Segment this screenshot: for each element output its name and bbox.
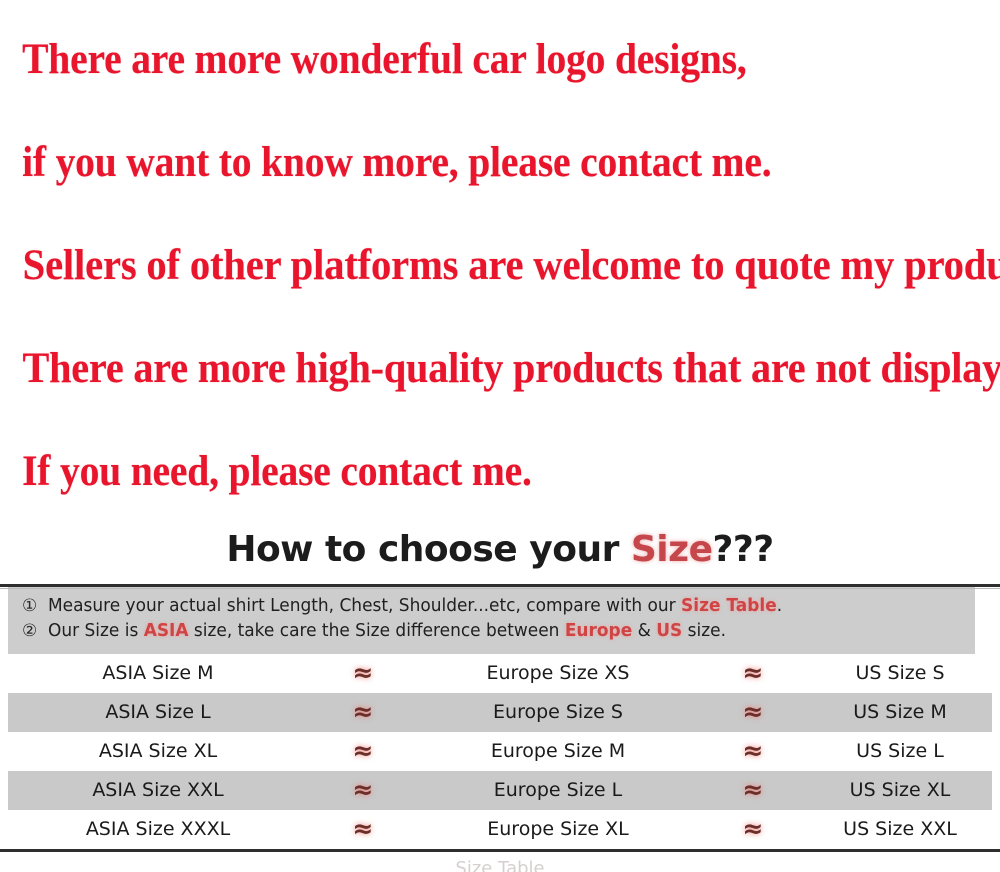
note-2-highlight-us: US: [656, 621, 682, 641]
cell-us-size: US Size XL: [808, 771, 992, 810]
cell-approx-1: ≈: [308, 771, 418, 810]
note-2-part-2: size, take care the Size difference betw…: [189, 621, 565, 641]
note-2-highlight-asia: ASIA: [144, 621, 189, 641]
promo-line-1: There are more wonderful car logo design…: [0, 0, 920, 81]
approximately-equal-icon: ≈: [743, 699, 764, 724]
circled-number-2-icon: ②: [22, 619, 48, 644]
cell-asia-size: ASIA Size XL: [8, 732, 308, 771]
cell-approx-1: ≈: [308, 810, 418, 849]
promo-headline-block: There are more wonderful car logo design…: [0, 0, 1000, 493]
heading-suffix: ???: [713, 529, 774, 570]
promo-line-5: If you need, please contact me.: [0, 390, 920, 493]
table-row: ASIA Size XXL ≈ Europe Size L ≈ US Size …: [8, 771, 992, 810]
approximately-equal-icon: ≈: [743, 738, 764, 763]
cell-approx-2: ≈: [698, 732, 808, 771]
approximately-equal-icon: ≈: [743, 660, 764, 685]
promo-line-3: Sellers of other platforms are welcome t…: [0, 184, 945, 287]
approximately-equal-icon: ≈: [353, 738, 374, 763]
size-conversion-table: ASIA Size M ≈ Europe Size XS ≈ US Size S…: [8, 654, 992, 849]
heading-prefix: How to choose your: [226, 529, 631, 570]
cell-us-size: US Size L: [808, 732, 992, 771]
approximately-equal-icon: ≈: [353, 660, 374, 685]
cell-europe-size: Europe Size M: [418, 732, 698, 771]
cell-approx-2: ≈: [698, 810, 808, 849]
table-row: ASIA Size M ≈ Europe Size XS ≈ US Size S: [8, 654, 992, 693]
cell-us-size: US Size M: [808, 693, 992, 732]
note-2-part-4: &: [632, 621, 656, 641]
table-row: ASIA Size L ≈ Europe Size S ≈ US Size M: [8, 693, 992, 732]
note-1-highlight-size-table: Size Table: [681, 596, 777, 616]
heading-highlight-size: Size: [631, 529, 713, 570]
cell-europe-size: Europe Size L: [418, 771, 698, 810]
clipped-footer-text: Size Table: [0, 858, 1000, 872]
cell-asia-size: ASIA Size L: [8, 693, 308, 732]
note-2-part-0: Our Size is: [48, 621, 144, 641]
cell-asia-size: ASIA Size XXL: [8, 771, 308, 810]
cell-europe-size: Europe Size XL: [418, 810, 698, 849]
cell-approx-1: ≈: [308, 654, 418, 693]
size-guide-heading: How to choose your Size???: [0, 529, 1000, 570]
circled-number-1-icon: ①: [22, 594, 48, 619]
approximately-equal-icon: ≈: [743, 777, 764, 802]
note-2-highlight-europe: Europe: [565, 621, 632, 641]
size-note-1-text: Measure your actual shirt Length, Chest,…: [48, 594, 782, 619]
cell-approx-2: ≈: [698, 693, 808, 732]
cell-approx-1: ≈: [308, 732, 418, 771]
cell-asia-size: ASIA Size XXXL: [8, 810, 308, 849]
cell-asia-size: ASIA Size M: [8, 654, 308, 693]
table-row: ASIA Size XL ≈ Europe Size M ≈ US Size L: [8, 732, 992, 771]
cell-us-size: US Size S: [808, 654, 992, 693]
note-1-part-2: .: [777, 596, 782, 616]
approximately-equal-icon: ≈: [353, 816, 374, 841]
cell-approx-2: ≈: [698, 771, 808, 810]
size-note-2-text: Our Size is ASIA size, take care the Siz…: [48, 619, 726, 644]
cell-approx-2: ≈: [698, 654, 808, 693]
cell-us-size: US Size XXL: [808, 810, 992, 849]
approximately-equal-icon: ≈: [353, 699, 374, 724]
promo-line-4: There are more high-quality products tha…: [0, 287, 935, 390]
note-2-part-6: size.: [682, 621, 726, 641]
note-1-part-0: Measure your actual shirt Length, Chest,…: [48, 596, 681, 616]
cell-europe-size: Europe Size S: [418, 693, 698, 732]
size-notes: ① Measure your actual shirt Length, Ches…: [8, 587, 975, 654]
size-note-1: ① Measure your actual shirt Length, Ches…: [8, 594, 975, 619]
cell-europe-size: Europe Size XS: [418, 654, 698, 693]
size-table-block: ① Measure your actual shirt Length, Ches…: [0, 584, 1000, 852]
size-note-2: ② Our Size is ASIA size, take care the S…: [8, 619, 975, 644]
approximately-equal-icon: ≈: [353, 777, 374, 802]
approximately-equal-icon: ≈: [743, 816, 764, 841]
cell-approx-1: ≈: [308, 693, 418, 732]
promo-line-2: if you want to know more, please contact…: [0, 81, 920, 184]
table-row: ASIA Size XXXL ≈ Europe Size XL ≈ US Siz…: [8, 810, 992, 849]
